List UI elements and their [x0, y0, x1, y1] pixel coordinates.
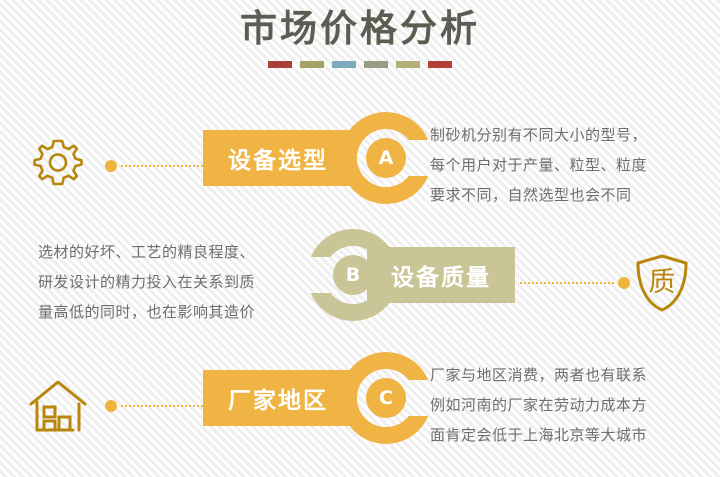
label-c: 厂家地区 — [228, 381, 328, 415]
arc-a: A — [340, 112, 432, 204]
paragraph-b: 选材的好坏、工艺的精良程度、 研发设计的精力投入在关系到质 量高低的同时，也在影… — [38, 237, 316, 327]
label-bar-a[interactable]: 设备选型 — [203, 130, 353, 186]
dash-4 — [364, 61, 388, 68]
badge-a: A — [366, 138, 406, 178]
house-factory-icon — [26, 374, 90, 438]
paragraph-a-line-1: 制砂机分别有不同大小的型号， — [430, 120, 700, 150]
dash-6 — [428, 61, 452, 68]
label-b: 设备质量 — [391, 258, 491, 292]
section-c: 厂家地区 C 厂家与地区消费，两者也有联系 例如河南的厂家在劳动力成本方 面肯定… — [0, 348, 720, 458]
title-block: 市场价格分析 — [0, 6, 720, 68]
shield-quality-icon: 质 — [630, 251, 694, 315]
connector-right-b — [520, 277, 630, 289]
label-bar-c[interactable]: 厂家地区 — [203, 370, 353, 426]
connector-dot — [105, 160, 117, 172]
paragraph-b-line-2: 研发设计的精力投入在关系到质 — [38, 267, 316, 297]
paragraph-a-line-2: 每个用户对于产量、粒型、粒度 — [430, 150, 700, 180]
paragraph-b-line-1: 选材的好坏、工艺的精良程度、 — [38, 237, 316, 267]
shield-icon-character: 质 — [649, 267, 676, 298]
connector-dot — [618, 277, 630, 289]
dash-1 — [268, 61, 292, 68]
decorative-dash-row — [0, 61, 720, 68]
paragraph-c-line-1: 厂家与地区消费，两者也有联系 — [430, 360, 700, 390]
label-bar-b[interactable]: 设备质量 — [367, 247, 515, 303]
dash-5 — [396, 61, 420, 68]
section-b: 选材的好坏、工艺的精良程度、 研发设计的精力投入在关系到质 量高低的同时，也在影… — [0, 225, 720, 335]
paragraph-a-line-3: 要求不同，自然选型也会不同 — [430, 180, 700, 210]
page-title: 市场价格分析 — [0, 6, 720, 52]
gear-icon — [26, 134, 90, 198]
arc-c: C — [340, 352, 432, 444]
paragraph-c: 厂家与地区消费，两者也有联系 例如河南的厂家在劳动力成本方 面肯定会低于上海北京… — [430, 360, 700, 450]
dash-2 — [300, 61, 324, 68]
label-a: 设备选型 — [228, 141, 328, 175]
paragraph-a: 制砂机分别有不同大小的型号， 每个用户对于产量、粒型、粒度 要求不同，自然选型也… — [430, 120, 700, 210]
section-a: 设备选型 A 制砂机分别有不同大小的型号， 每个用户对于产量、粒型、粒度 要求不… — [0, 108, 720, 218]
paragraph-c-line-2: 例如河南的厂家在劳动力成本方 — [430, 390, 700, 420]
dash-3 — [332, 61, 356, 68]
connector-dot — [105, 400, 117, 412]
paragraph-c-line-3: 面肯定会低于上海北京等大城市 — [430, 420, 700, 450]
connector-line — [520, 282, 614, 284]
badge-c: C — [366, 378, 406, 418]
paragraph-b-line-3: 量高低的同时，也在影响其造价 — [38, 297, 316, 327]
